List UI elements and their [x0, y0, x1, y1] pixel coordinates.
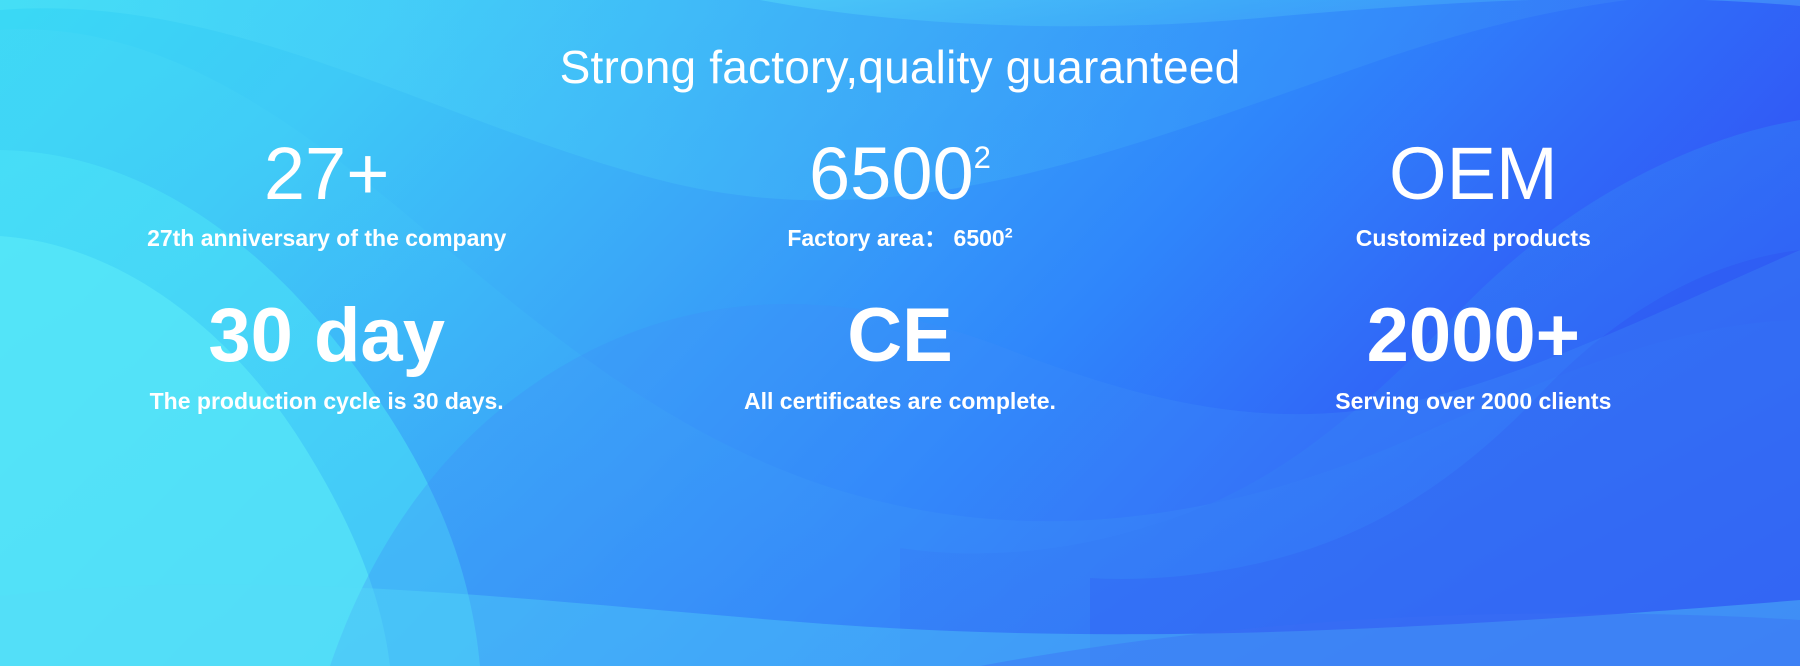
stat-caption: Serving over 2000 clients	[1335, 388, 1611, 416]
stat-value: 65002	[809, 137, 991, 211]
stat-value-text: 2000+	[1367, 298, 1580, 374]
stat-value-superscript: 2	[974, 142, 991, 173]
stat-value: 30 day	[208, 298, 445, 374]
stat-ce-certificate: CE All certificates are complete.	[613, 298, 1186, 416]
stats-grid: 27+ 27th anniversary of the company 6500…	[40, 137, 1760, 416]
page-title: Strong factory,quality guaranteed	[560, 42, 1241, 93]
stat-caption: All certificates are complete.	[744, 388, 1056, 416]
stat-value-text: OEM	[1389, 137, 1558, 211]
promo-banner: Strong factory,quality guaranteed 27+ 27…	[0, 0, 1800, 666]
stat-caption: 27th anniversary of the company	[147, 225, 506, 253]
stat-anniversary: 27+ 27th anniversary of the company	[40, 137, 613, 253]
stat-caption-text: The production cycle is 30 days.	[150, 388, 504, 414]
stat-caption-text: Factory area： 6500	[787, 225, 1004, 251]
stat-value: 27+	[264, 137, 390, 211]
stat-caption-text: Customized products	[1356, 225, 1591, 251]
stat-value-text: CE	[847, 298, 953, 374]
stat-oem: OEM Customized products	[1187, 137, 1760, 253]
banner-content: Strong factory,quality guaranteed 27+ 27…	[0, 0, 1800, 666]
stat-caption: Customized products	[1356, 225, 1591, 253]
stat-value: CE	[847, 298, 953, 374]
stat-value-text: 27+	[264, 137, 390, 211]
stat-value-text: 6500	[809, 137, 974, 211]
stat-caption: The production cycle is 30 days.	[150, 388, 504, 416]
stat-caption-text: Serving over 2000 clients	[1335, 388, 1611, 414]
stat-factory-area: 65002 Factory area： 65002	[613, 137, 1186, 253]
stat-production-cycle: 30 day The production cycle is 30 days.	[40, 298, 613, 416]
stat-clients: 2000+ Serving over 2000 clients	[1187, 298, 1760, 416]
stat-value-text: 30 day	[208, 298, 445, 374]
stat-value: OEM	[1389, 137, 1558, 211]
stat-caption-text: 27th anniversary of the company	[147, 225, 506, 251]
stat-value: 2000+	[1367, 298, 1580, 374]
stat-caption: Factory area： 65002	[787, 225, 1012, 253]
stat-caption-superscript: 2	[1005, 225, 1013, 241]
stat-caption-text: All certificates are complete.	[744, 388, 1056, 414]
